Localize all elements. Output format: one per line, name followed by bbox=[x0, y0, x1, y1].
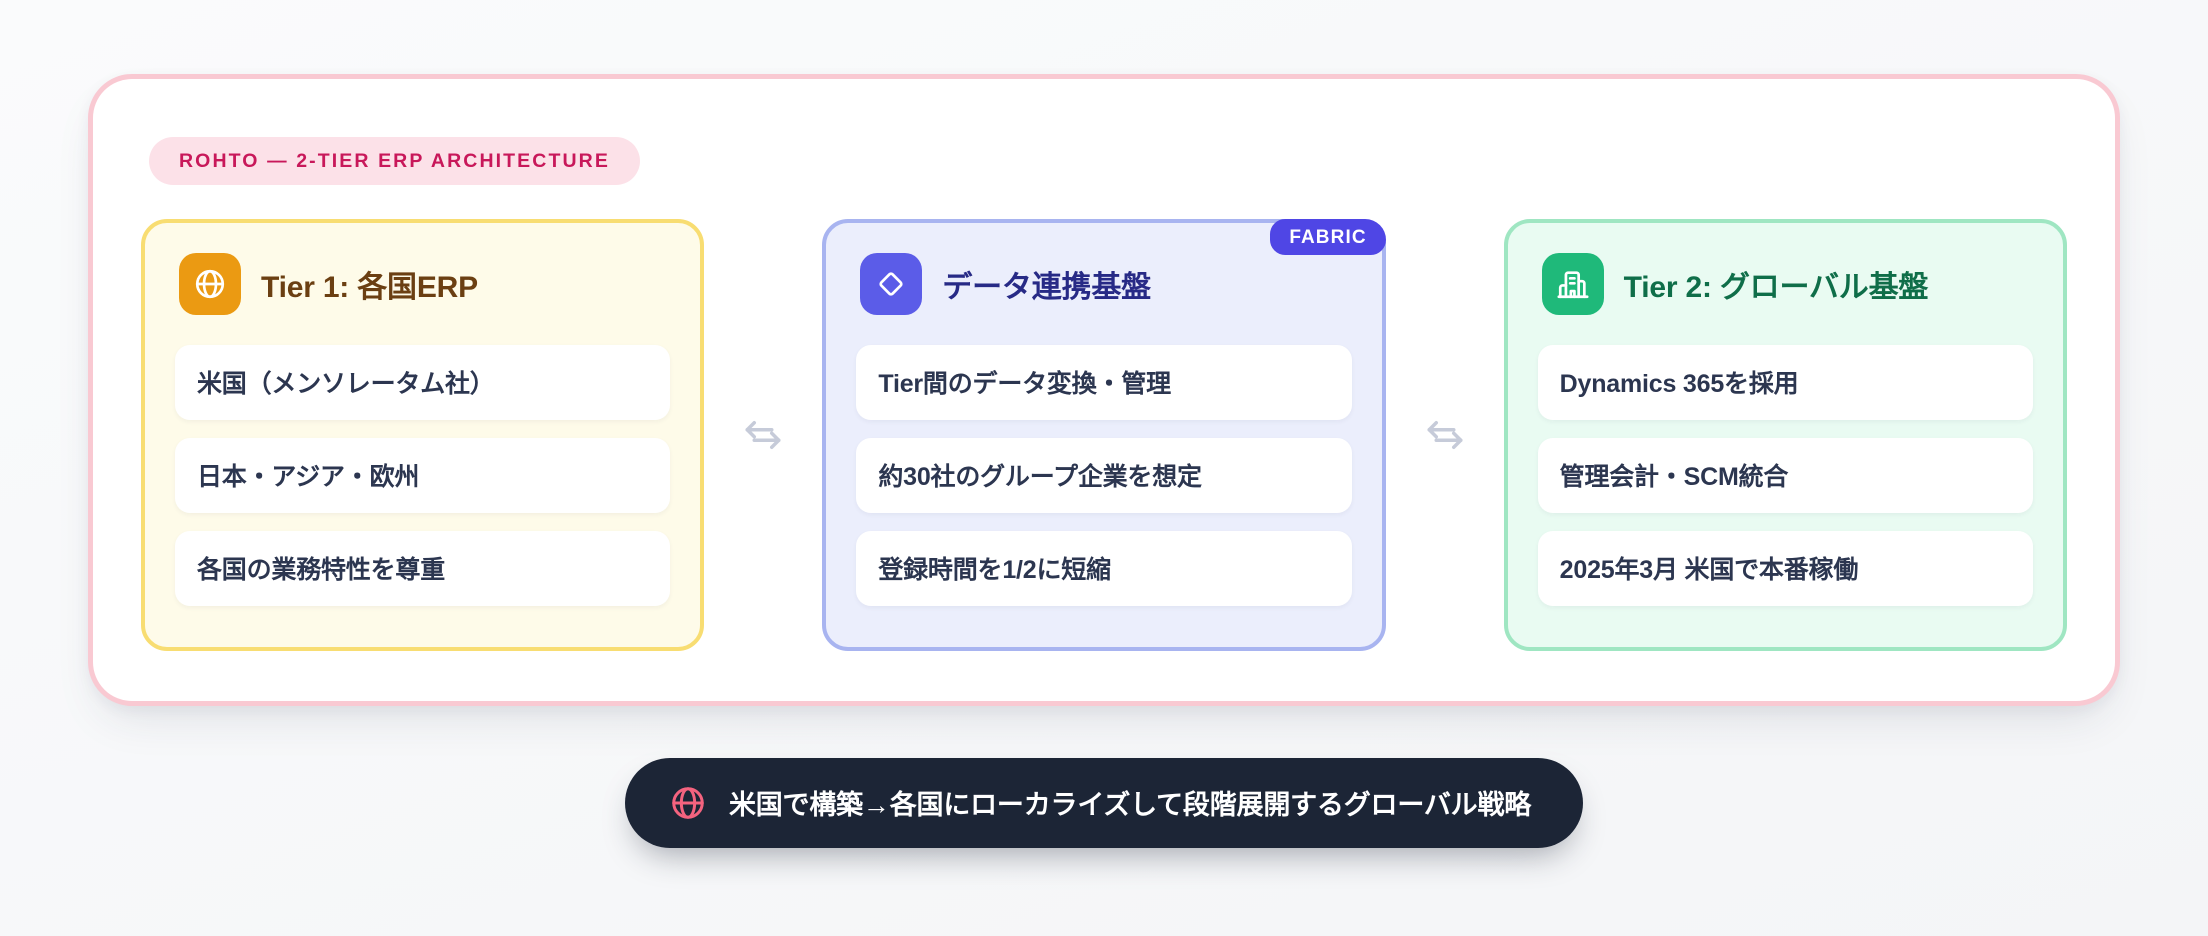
column-tier2: Tier 2: グローバル基盤 Dynamics 365を採用 管理会計・SCM… bbox=[1504, 219, 2067, 651]
card-fabric-title: データ連携基盤 bbox=[942, 262, 1151, 306]
card-tier2-header: Tier 2: グローバル基盤 bbox=[1538, 253, 2033, 315]
building-icon bbox=[1542, 253, 1604, 315]
slide-canvas: ROHTO — 2-TIER ERP ARCHITECTURE Tier 1: bbox=[0, 0, 2208, 936]
bidirectional-arrows-icon bbox=[1422, 414, 1468, 456]
list-item[interactable]: 米国（メンソレータム社） bbox=[175, 345, 670, 420]
card-fabric-header: データ連携基盤 bbox=[856, 253, 1351, 315]
card-tier2-title: Tier 2: グローバル基盤 bbox=[1624, 262, 1929, 306]
bidirectional-arrows-icon bbox=[740, 414, 786, 456]
status-badge-fabric: FABRIC bbox=[1270, 219, 1385, 255]
globe-icon bbox=[669, 784, 707, 822]
card-tier2-items: Dynamics 365を採用 管理会計・SCM統合 2025年3月 米国で本番… bbox=[1538, 345, 2033, 606]
card-fabric-items: Tier間のデータ変換・管理 約30社のグループ企業を想定 登録時間を1/2に短… bbox=[856, 345, 1351, 606]
column-tier1: Tier 1: 各国ERP 米国（メンソレータム社） 日本・アジア・欧州 各国の… bbox=[141, 219, 704, 651]
connector-fabric-tier2 bbox=[1386, 219, 1504, 651]
summary-banner: 米国で構築→各国にローカライズして段階展開するグローバル戦略 bbox=[625, 758, 1583, 848]
card-tier1-title: Tier 1: 各国ERP bbox=[261, 262, 478, 306]
panel-eyebrow-badge: ROHTO — 2-TIER ERP ARCHITECTURE bbox=[149, 137, 640, 185]
tier-columns-row: Tier 1: 各国ERP 米国（メンソレータム社） 日本・アジア・欧州 各国の… bbox=[141, 219, 2067, 651]
globe-icon bbox=[179, 253, 241, 315]
card-tier1[interactable]: Tier 1: 各国ERP 米国（メンソレータム社） 日本・アジア・欧州 各国の… bbox=[141, 219, 704, 651]
card-tier2[interactable]: Tier 2: グローバル基盤 Dynamics 365を採用 管理会計・SCM… bbox=[1504, 219, 2067, 651]
card-tier1-items: 米国（メンソレータム社） 日本・アジア・欧州 各国の業務特性を尊重 bbox=[175, 345, 670, 606]
list-item[interactable]: 2025年3月 米国で本番稼働 bbox=[1538, 531, 2033, 606]
list-item[interactable]: Tier間のデータ変換・管理 bbox=[856, 345, 1351, 420]
diamond-icon bbox=[860, 253, 922, 315]
list-item[interactable]: Dynamics 365を採用 bbox=[1538, 345, 2033, 420]
list-item[interactable]: 各国の業務特性を尊重 bbox=[175, 531, 670, 606]
connector-tier1-fabric bbox=[704, 219, 822, 651]
architecture-panel: ROHTO — 2-TIER ERP ARCHITECTURE Tier 1: bbox=[88, 74, 2120, 706]
summary-banner-text: 米国で構築→各国にローカライズして段階展開するグローバル戦略 bbox=[729, 783, 1531, 822]
column-fabric: FABRIC データ連携基盤 Tier間のデータ変換・管理 約30社のグループ企… bbox=[822, 219, 1385, 651]
card-fabric[interactable]: FABRIC データ連携基盤 Tier間のデータ変換・管理 約30社のグループ企… bbox=[822, 219, 1385, 651]
card-tier1-header: Tier 1: 各国ERP bbox=[175, 253, 670, 315]
list-item[interactable]: 日本・アジア・欧州 bbox=[175, 438, 670, 513]
list-item[interactable]: 約30社のグループ企業を想定 bbox=[856, 438, 1351, 513]
list-item[interactable]: 管理会計・SCM統合 bbox=[1538, 438, 2033, 513]
list-item[interactable]: 登録時間を1/2に短縮 bbox=[856, 531, 1351, 606]
